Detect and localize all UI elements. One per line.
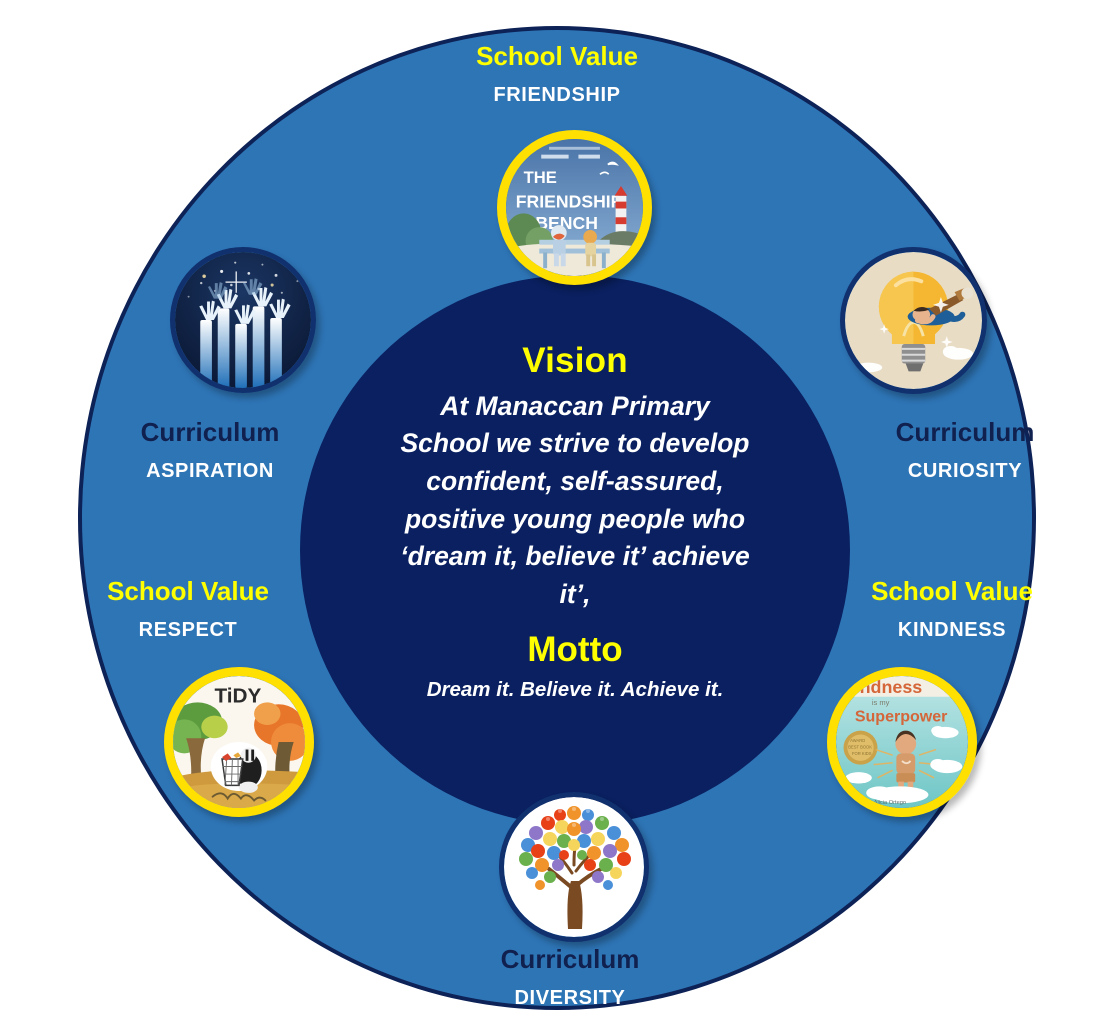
svg-text:THE: THE	[524, 168, 557, 187]
label-kind-curiosity: Curriculum	[835, 418, 1095, 447]
svg-text:TiDY: TiDY	[214, 684, 261, 707]
svg-text:Superpower: Superpower	[855, 707, 948, 725]
vision-statement-text: At Manaccan Primary School we strive to …	[395, 388, 755, 614]
curiosity-art	[845, 252, 982, 389]
label-word-diversity: DIVERSITY	[440, 987, 700, 1010]
label-word-curiosity: CURIOSITY	[835, 460, 1095, 483]
friendship-bench-book-cover-image: THE FRIENDSHIP BENCH	[497, 130, 652, 285]
kindness-is-my-superpower-book-cover-image: Kindness is my Superpower AWARD BEST BOO…	[827, 667, 977, 817]
diversity-tree-art	[504, 797, 644, 937]
label-word-friendship: FRIENDSHIP	[427, 84, 687, 107]
label-word-kindness: KINDNESS	[822, 619, 1082, 642]
aspiration-art	[175, 252, 311, 388]
label-word-respect: RESPECT	[58, 619, 318, 642]
svg-text:Alicia Ortego: Alicia Ortego	[874, 800, 906, 806]
svg-text:FOR KIDS: FOR KIDS	[852, 751, 872, 756]
vision-heading: Vision	[522, 343, 628, 380]
label-word-aspiration: ASPIRATION	[80, 460, 340, 483]
handprint-tree-diversity-image	[499, 792, 649, 942]
motto-text: Dream it. Believe it. Achieve it.	[427, 678, 724, 702]
label-group-curiosity: Curriculum CURIOSITY	[835, 418, 1095, 483]
label-kind-kindness: School Value	[822, 577, 1082, 606]
label-group-diversity: Curriculum DIVERSITY	[440, 945, 700, 1010]
school-vision-diagram: Vision At Manaccan Primary School we str…	[0, 0, 1114, 1032]
label-kind-friendship: School Value	[427, 42, 687, 71]
label-kind-respect: School Value	[58, 577, 318, 606]
label-group-aspiration: Curriculum ASPIRATION	[80, 418, 340, 483]
label-group-kindness: School Value KINDNESS	[822, 577, 1082, 642]
label-kind-aspiration: Curriculum	[80, 418, 340, 447]
svg-text:BEST BOOK: BEST BOOK	[848, 745, 872, 750]
inner-vision-circle: Vision At Manaccan Primary School we str…	[300, 275, 850, 825]
label-group-friendship: School Value FRIENDSHIP	[427, 42, 687, 107]
kindness-book-art: Kindness is my Superpower AWARD BEST BOO…	[836, 676, 968, 808]
svg-text:AWARD: AWARD	[850, 738, 865, 743]
tidy-book-cover-image: TiDY	[164, 667, 314, 817]
friendship-bench-art: THE FRIENDSHIP BENCH	[506, 139, 643, 276]
motto-heading: Motto	[527, 632, 622, 669]
lightbulb-telescope-explorer-image	[840, 247, 987, 394]
svg-text:FRIENDSHIP: FRIENDSHIP	[516, 192, 623, 212]
raised-hands-starry-sky-image	[170, 247, 316, 393]
tidy-book-art: TiDY	[173, 676, 305, 808]
label-kind-diversity: Curriculum	[440, 945, 700, 974]
label-group-respect: School Value RESPECT	[58, 577, 318, 642]
svg-text:is my: is my	[872, 698, 890, 707]
